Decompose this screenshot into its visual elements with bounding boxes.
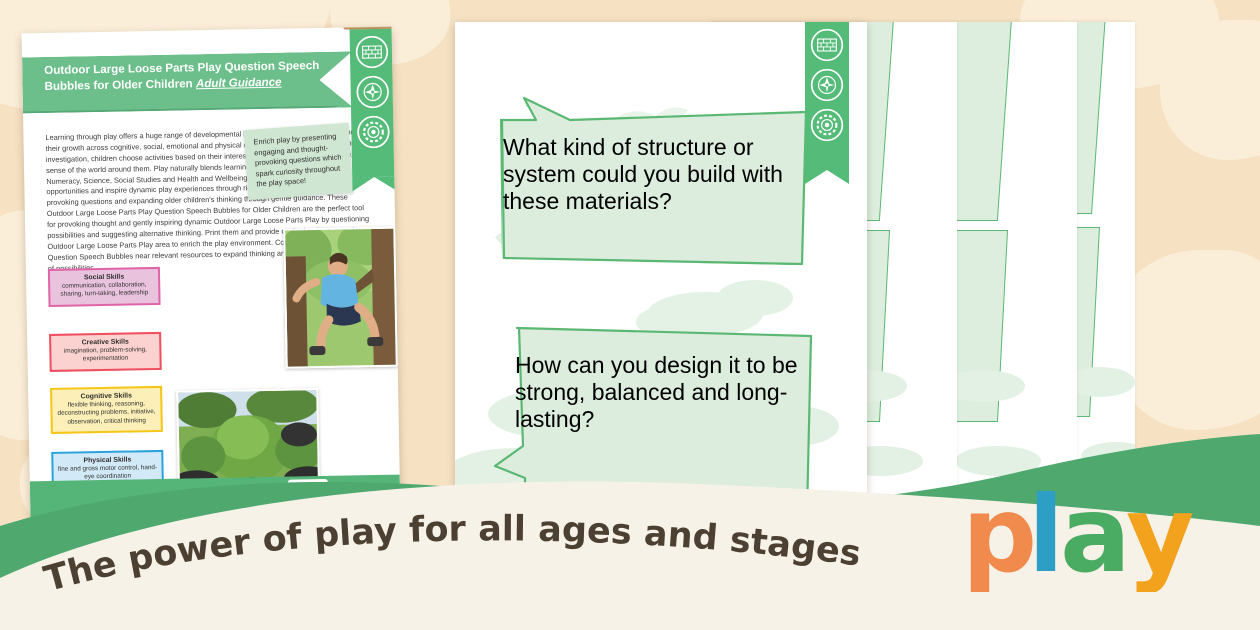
locomotor-play-badge bbox=[810, 108, 844, 142]
exploratory-play-badge bbox=[810, 68, 844, 102]
document-title-line1: Outdoor Large Loose Parts Play Question … bbox=[44, 59, 319, 77]
document-title-emphasis: Adult Guidance bbox=[196, 76, 282, 91]
title-band-shadow bbox=[23, 106, 340, 121]
play-logo-letter-p: p bbox=[962, 487, 1037, 592]
child-climbing-tree-photo bbox=[283, 227, 398, 369]
callout-note: Enrich play by presenting engaging and t… bbox=[244, 123, 354, 200]
ribbon-rod bbox=[343, 27, 399, 30]
speech-bubble-1-text: What kind of structure or system could y… bbox=[503, 134, 799, 215]
document-title: Outdoor Large Loose Parts Play Question … bbox=[44, 58, 345, 96]
skill-description: imagination, problem-solving, experiment… bbox=[54, 346, 156, 365]
locomotor-play-badge bbox=[356, 115, 391, 150]
play-logo-letter-a: a bbox=[1060, 487, 1131, 592]
play-type-ribbon bbox=[350, 29, 397, 178]
skill-description: flexible thinking, reasoning, deconstruc… bbox=[55, 400, 157, 427]
skill-box-creative: Creative Skills imagination, problem-sol… bbox=[49, 332, 162, 372]
skill-box-cognitive: Cognitive Skills flexible thinking, reas… bbox=[50, 386, 163, 434]
stacked-page-sheet[interactable] bbox=[955, 22, 1077, 500]
exploratory-play-badge bbox=[355, 75, 390, 110]
tagline-banner: The power of play for all ages and stage… bbox=[0, 506, 920, 616]
play-logo-letter-l: l bbox=[1028, 487, 1064, 592]
tagline-label: The power of play for all ages and stage… bbox=[40, 509, 863, 600]
stacked-page-sheet[interactable] bbox=[1075, 22, 1135, 500]
play-type-ribbon bbox=[805, 22, 849, 170]
tagline-text: The power of play for all ages and stage… bbox=[40, 509, 863, 600]
play-logo-letter-y: y bbox=[1126, 487, 1194, 592]
document-title-line2: Bubbles for Older Children bbox=[44, 78, 196, 94]
play-logo: p l a y bbox=[960, 487, 1210, 592]
deep-play-badge bbox=[810, 28, 844, 62]
skill-description: communication, collaboration, sharing, t… bbox=[53, 281, 155, 300]
speech-bubble-2-text: How can you design it to be strong, bala… bbox=[515, 352, 803, 433]
deep-play-badge bbox=[355, 35, 390, 70]
skill-box-social: Social Skills communication, collaborati… bbox=[48, 267, 161, 307]
question-bubbles-page[interactable]: What kind of structure or system could y… bbox=[455, 22, 867, 500]
